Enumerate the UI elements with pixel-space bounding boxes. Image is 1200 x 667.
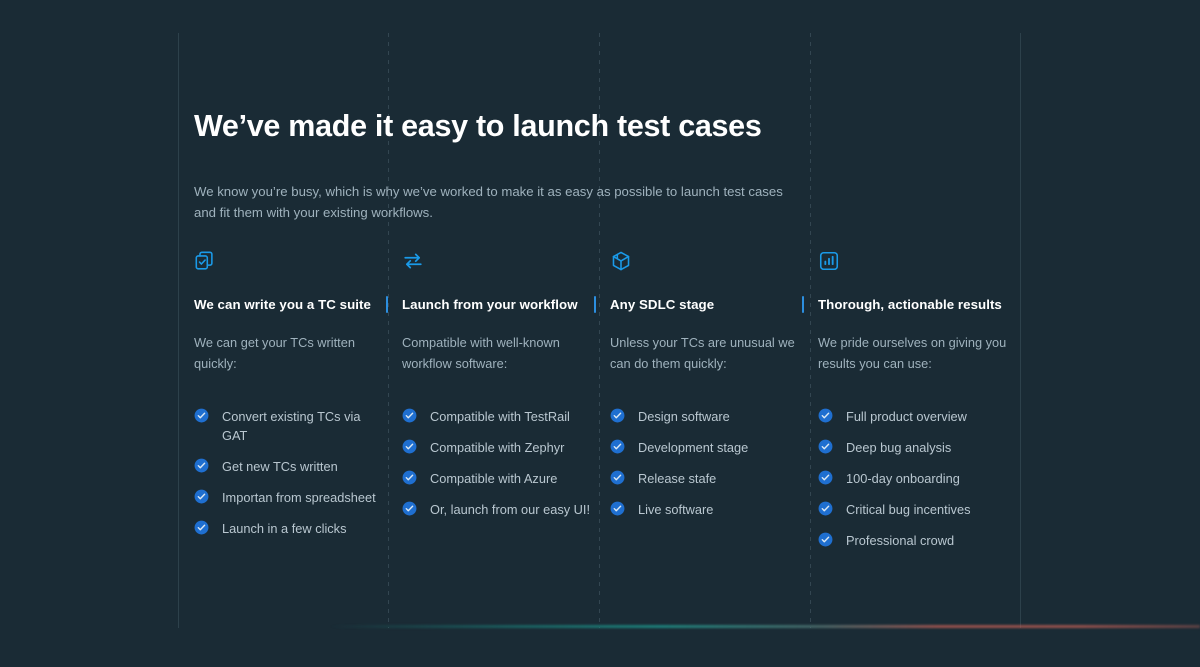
list-item: Deep bug analysis	[818, 438, 1008, 457]
heading-accent-bar	[802, 296, 804, 313]
check-circle-icon	[194, 520, 209, 535]
list-item-label: Launch in a few clicks	[222, 521, 346, 536]
check-circle-icon	[402, 408, 417, 423]
check-circle-icon	[818, 532, 833, 547]
check-circle-icon	[402, 501, 417, 516]
list-item: Convert existing TCs via GAT	[194, 407, 384, 445]
list-item: Release stafe	[610, 469, 800, 488]
bar-chart-icon	[818, 250, 1008, 276]
check-circle-icon	[194, 408, 209, 423]
check-circle-icon	[402, 470, 417, 485]
list-item: Development stage	[610, 438, 800, 457]
list-item-label: Critical bug incentives	[846, 502, 970, 517]
list-item-label: Full product overview	[846, 409, 967, 424]
page-title: We’ve made it easy to launch test cases	[194, 107, 762, 145]
copy-check-icon	[194, 250, 384, 276]
list-item-label: Design software	[638, 409, 730, 424]
list-item: Compatible with Azure	[402, 469, 592, 488]
list-item: Importan from spreadsheet	[194, 488, 384, 507]
list-item-label: Convert existing TCs via GAT	[222, 409, 360, 443]
list-item: Professional crowd	[818, 531, 1008, 550]
list-item: Live software	[610, 500, 800, 519]
list-item-label: Or, launch from our easy UI!	[430, 502, 590, 517]
list-item: Compatible with Zephyr	[402, 438, 592, 457]
cube-icon	[610, 250, 800, 276]
swap-arrows-icon	[402, 250, 592, 276]
column-description: We can get your TCs written quickly:	[194, 333, 384, 395]
heading-accent-bar	[594, 296, 596, 313]
list-item-label: Development stage	[638, 440, 748, 455]
list-item-label: Get new TCs written	[222, 459, 338, 474]
feature-column-results: Thorough, actionable results We pride ou…	[818, 250, 1026, 562]
list-item: Critical bug incentives	[818, 500, 1008, 519]
feature-column-sdlc: Any SDLC stage Unless your TCs are unusu…	[610, 250, 818, 562]
page-content: We’ve made it easy to launch test cases …	[194, 0, 1024, 667]
list-item-label: 100-day onboarding	[846, 471, 960, 486]
feature-list: Design software Development stage Releas…	[610, 407, 800, 519]
check-circle-icon	[818, 439, 833, 454]
list-item: Launch in a few clicks	[194, 519, 384, 538]
check-circle-icon	[818, 408, 833, 423]
check-circle-icon	[610, 439, 625, 454]
list-item-label: Release stafe	[638, 471, 716, 486]
check-circle-icon	[610, 408, 625, 423]
feature-column-workflow: Launch from your workflow Compatible wit…	[402, 250, 610, 562]
list-item-label: Deep bug analysis	[846, 440, 951, 455]
list-item: Get new TCs written	[194, 457, 384, 476]
list-item-label: Professional crowd	[846, 533, 954, 548]
check-circle-icon	[194, 458, 209, 473]
feature-list: Full product overview Deep bug analysis …	[818, 407, 1008, 550]
page-subtitle: We know you’re busy, which is why we’ve …	[194, 181, 794, 223]
check-circle-icon	[818, 470, 833, 485]
column-title: We can write you a TC suite	[194, 296, 384, 314]
check-circle-icon	[194, 489, 209, 504]
list-item-label: Compatible with TestRail	[430, 409, 570, 424]
list-item: Compatible with TestRail	[402, 407, 592, 426]
column-title: Any SDLC stage	[610, 296, 800, 314]
column-description: Compatible with well-known workflow soft…	[402, 333, 592, 395]
column-heading-wrap: Any SDLC stage	[610, 296, 800, 316]
list-item-label: Compatible with Azure	[430, 471, 557, 486]
column-heading-wrap: Launch from your workflow	[402, 296, 592, 316]
column-title: Launch from your workflow	[402, 296, 592, 314]
vertical-rule-1	[178, 33, 179, 628]
feature-column-tc-suite: We can write you a TC suite We can get y…	[194, 250, 402, 562]
list-item: Or, launch from our easy UI!	[402, 500, 592, 519]
feature-columns: We can write you a TC suite We can get y…	[194, 250, 1024, 562]
column-heading-wrap: We can write you a TC suite	[194, 296, 384, 316]
list-item: 100-day onboarding	[818, 469, 1008, 488]
list-item-label: Live software	[638, 502, 713, 517]
check-circle-icon	[610, 470, 625, 485]
check-circle-icon	[610, 501, 625, 516]
list-item: Design software	[610, 407, 800, 426]
list-item-label: Compatible with Zephyr	[430, 440, 564, 455]
list-item: Full product overview	[818, 407, 1008, 426]
column-title: Thorough, actionable results	[818, 296, 1008, 314]
column-description: We pride ourselves on giving you results…	[818, 333, 1008, 395]
feature-list: Compatible with TestRail Compatible with…	[402, 407, 592, 519]
column-heading-wrap: Thorough, actionable results	[818, 296, 1008, 316]
check-circle-icon	[818, 501, 833, 516]
list-item-label: Importan from spreadsheet	[222, 490, 376, 505]
feature-list: Convert existing TCs via GAT Get new TCs…	[194, 407, 384, 538]
heading-accent-bar	[386, 296, 388, 313]
check-circle-icon	[402, 439, 417, 454]
column-description: Unless your TCs are unusual we can do th…	[610, 333, 800, 395]
